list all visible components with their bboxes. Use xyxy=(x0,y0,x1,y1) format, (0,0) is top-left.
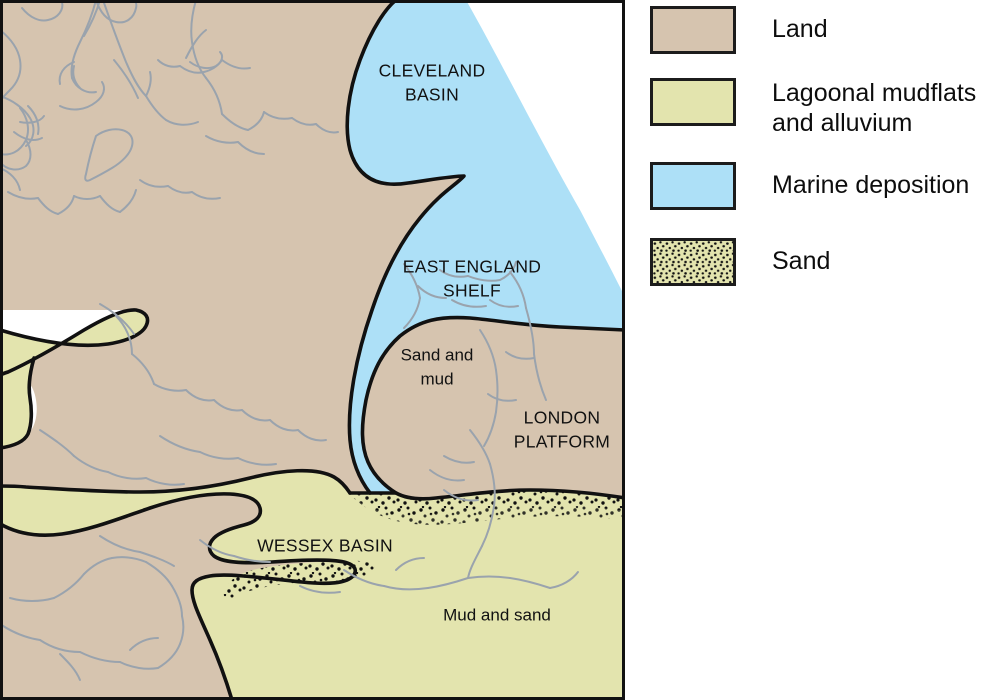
figure-root: CLEVELAND BASIN EAST ENGLAND SHELF Sand … xyxy=(0,0,1000,700)
sand-stipple-pattern xyxy=(653,241,733,283)
legend-swatch-land xyxy=(650,6,736,54)
legend-item-marine-deposition: Marine deposition xyxy=(650,162,969,210)
legend-label-sand: Sand xyxy=(772,238,830,276)
label-london-platform-line2: PLATFORM xyxy=(514,432,610,452)
legend-label-lagoonal-mudflats: Lagoonal mudflats and alluvium xyxy=(772,78,976,138)
label-sand-and-mud-line1: Sand and xyxy=(401,345,474,364)
map-panel: CLEVELAND BASIN EAST ENGLAND SHELF Sand … xyxy=(0,0,625,700)
legend-swatch-sand xyxy=(650,238,736,286)
legend-item-lagoonal-mudflats: Lagoonal mudflats and alluvium xyxy=(650,78,976,138)
legend-swatch-marine-deposition xyxy=(650,162,736,210)
legend-swatch-lagoonal-mudflats xyxy=(650,78,736,126)
label-mud-and-sand: Mud and sand xyxy=(443,605,551,624)
label-east-england-shelf-line1: EAST ENGLAND xyxy=(403,257,541,277)
label-wessex-basin: WESSEX BASIN xyxy=(257,536,393,556)
legend-label-land: Land xyxy=(772,6,828,44)
label-east-england-shelf-line2: SHELF xyxy=(443,281,501,301)
label-sand-and-mud-line2: mud xyxy=(420,369,453,388)
map-legend: Land Lagoonal mudflats and alluvium Mari… xyxy=(650,0,1000,700)
label-cleveland-basin-line1: CLEVELAND xyxy=(379,61,486,81)
label-london-platform-line1: LONDON xyxy=(524,408,601,428)
legend-item-land: Land xyxy=(650,6,828,54)
paleogeographic-map: CLEVELAND BASIN EAST ENGLAND SHELF Sand … xyxy=(0,0,625,700)
legend-label-marine-deposition: Marine deposition xyxy=(772,162,969,200)
legend-item-sand: Sand xyxy=(650,238,830,286)
label-cleveland-basin-line2: BASIN xyxy=(405,85,459,105)
